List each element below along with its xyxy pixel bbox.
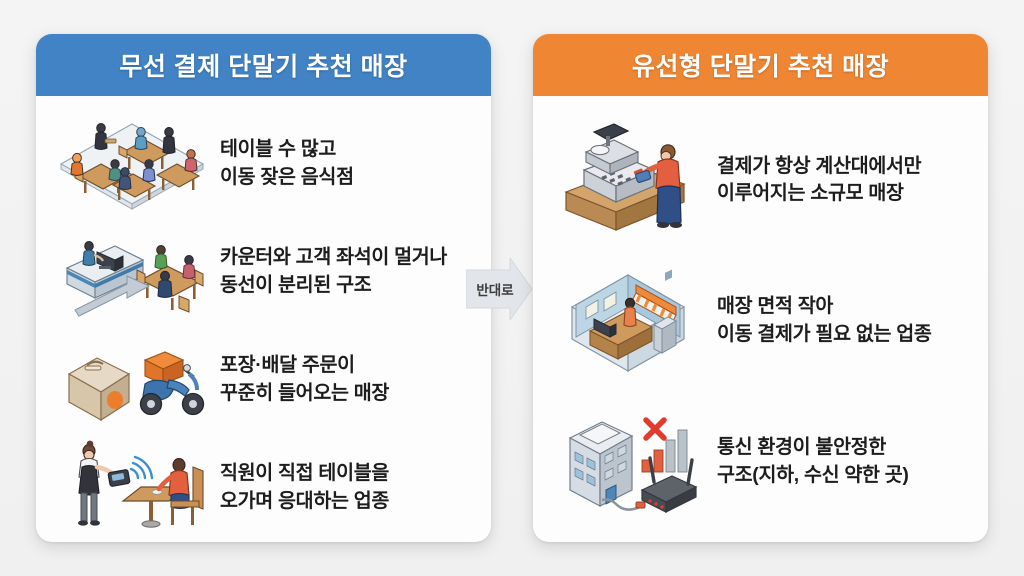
wireless-card-header: 무선 결제 단말기 추천 매장 xyxy=(36,34,491,96)
list-item: 매장 면적 작아 이동 결제가 필요 없는 업종 xyxy=(543,261,978,381)
server-with-wireless-terminal-icon xyxy=(52,436,212,540)
list-item: 결제가 항상 계산대에서만 이루어지는 소규모 매장 xyxy=(543,120,978,240)
list-item-line2: 오가며 응대하는 업종 xyxy=(220,488,475,516)
list-item-line1: 통신 환경이 불안정한 xyxy=(717,436,886,458)
list-item-text: 테이블 수 많고 이동 잦은 음식점 xyxy=(220,136,475,191)
list-item-text: 통신 환경이 불안정한 구조(지하, 수신 약한 곳) xyxy=(717,434,972,489)
infographic-canvas: 무선 결제 단말기 추천 매장 xyxy=(0,0,1024,576)
list-item-line1: 테이블 수 많고 xyxy=(220,138,336,160)
list-item-text: 포장·배달 주문이 꾸준히 들어오는 매장 xyxy=(220,352,475,407)
list-item: 테이블 수 많고 이동 잦은 음식점 xyxy=(46,110,481,218)
list-item: 카운터와 고객 좌석이 멀거나 동선이 분리된 구조 xyxy=(46,218,481,326)
wireless-terminal-card: 무선 결제 단말기 추천 매장 xyxy=(36,34,491,542)
list-item-line2: 이동 결제가 필요 없는 업종 xyxy=(717,321,972,349)
list-item-line1: 카운터와 고객 좌석이 멀거나 xyxy=(220,246,447,268)
list-item-line2: 이루어지는 소규모 매장 xyxy=(717,180,972,208)
small-shop-interior-icon xyxy=(549,263,709,379)
wired-terminal-card: 유선형 단말기 추천 매장 xyxy=(533,34,988,542)
list-item-text: 결제가 항상 계산대에서만 이루어지는 소규모 매장 xyxy=(717,153,972,208)
list-item: 직원이 직접 테이블을 오가며 응대하는 업종 xyxy=(46,434,481,542)
list-item: 통신 환경이 불안정한 구조(지하, 수신 약한 곳) xyxy=(543,402,978,522)
list-item-line2: 이동 잦은 음식점 xyxy=(220,164,475,192)
list-item-line1: 결제가 항상 계산대에서만 xyxy=(717,155,921,177)
list-item-text: 직원이 직접 테이블을 오가며 응대하는 업종 xyxy=(220,460,475,515)
counter-and-distant-seating-icon xyxy=(52,220,212,324)
list-item-text: 카운터와 고객 좌석이 멀거나 동선이 분리된 구조 xyxy=(220,244,475,299)
wired-card-body: 결제가 항상 계산대에서만 이루어지는 소규모 매장 xyxy=(533,96,988,542)
list-item-text: 매장 면적 작아 이동 결제가 필요 없는 업종 xyxy=(717,293,972,348)
list-item-line2: 동선이 분리된 구조 xyxy=(220,272,475,300)
opposite-direction-arrow: 반대로 xyxy=(466,258,532,320)
building-weak-signal-router-icon xyxy=(549,404,709,520)
cash-register-checkout-icon xyxy=(549,122,709,238)
list-item-line1: 포장·배달 주문이 xyxy=(220,354,355,376)
list-item: 포장·배달 주문이 꾸준히 들어오는 매장 xyxy=(46,326,481,434)
list-item-line1: 직원이 직접 테이블을 xyxy=(220,462,389,484)
takeout-bag-and-delivery-scooter-icon xyxy=(52,328,212,432)
wired-card-header: 유선형 단말기 추천 매장 xyxy=(533,34,988,96)
opposite-direction-label: 반대로 xyxy=(466,258,532,320)
restaurant-tables-isometric-icon xyxy=(52,112,212,216)
list-item-line1: 매장 면적 작아 xyxy=(717,295,833,317)
wireless-card-body: 테이블 수 많고 이동 잦은 음식점 xyxy=(36,96,491,542)
list-item-line2: 꾸준히 들어오는 매장 xyxy=(220,380,475,408)
list-item-line2: 구조(지하, 수신 약한 곳) xyxy=(717,462,972,490)
